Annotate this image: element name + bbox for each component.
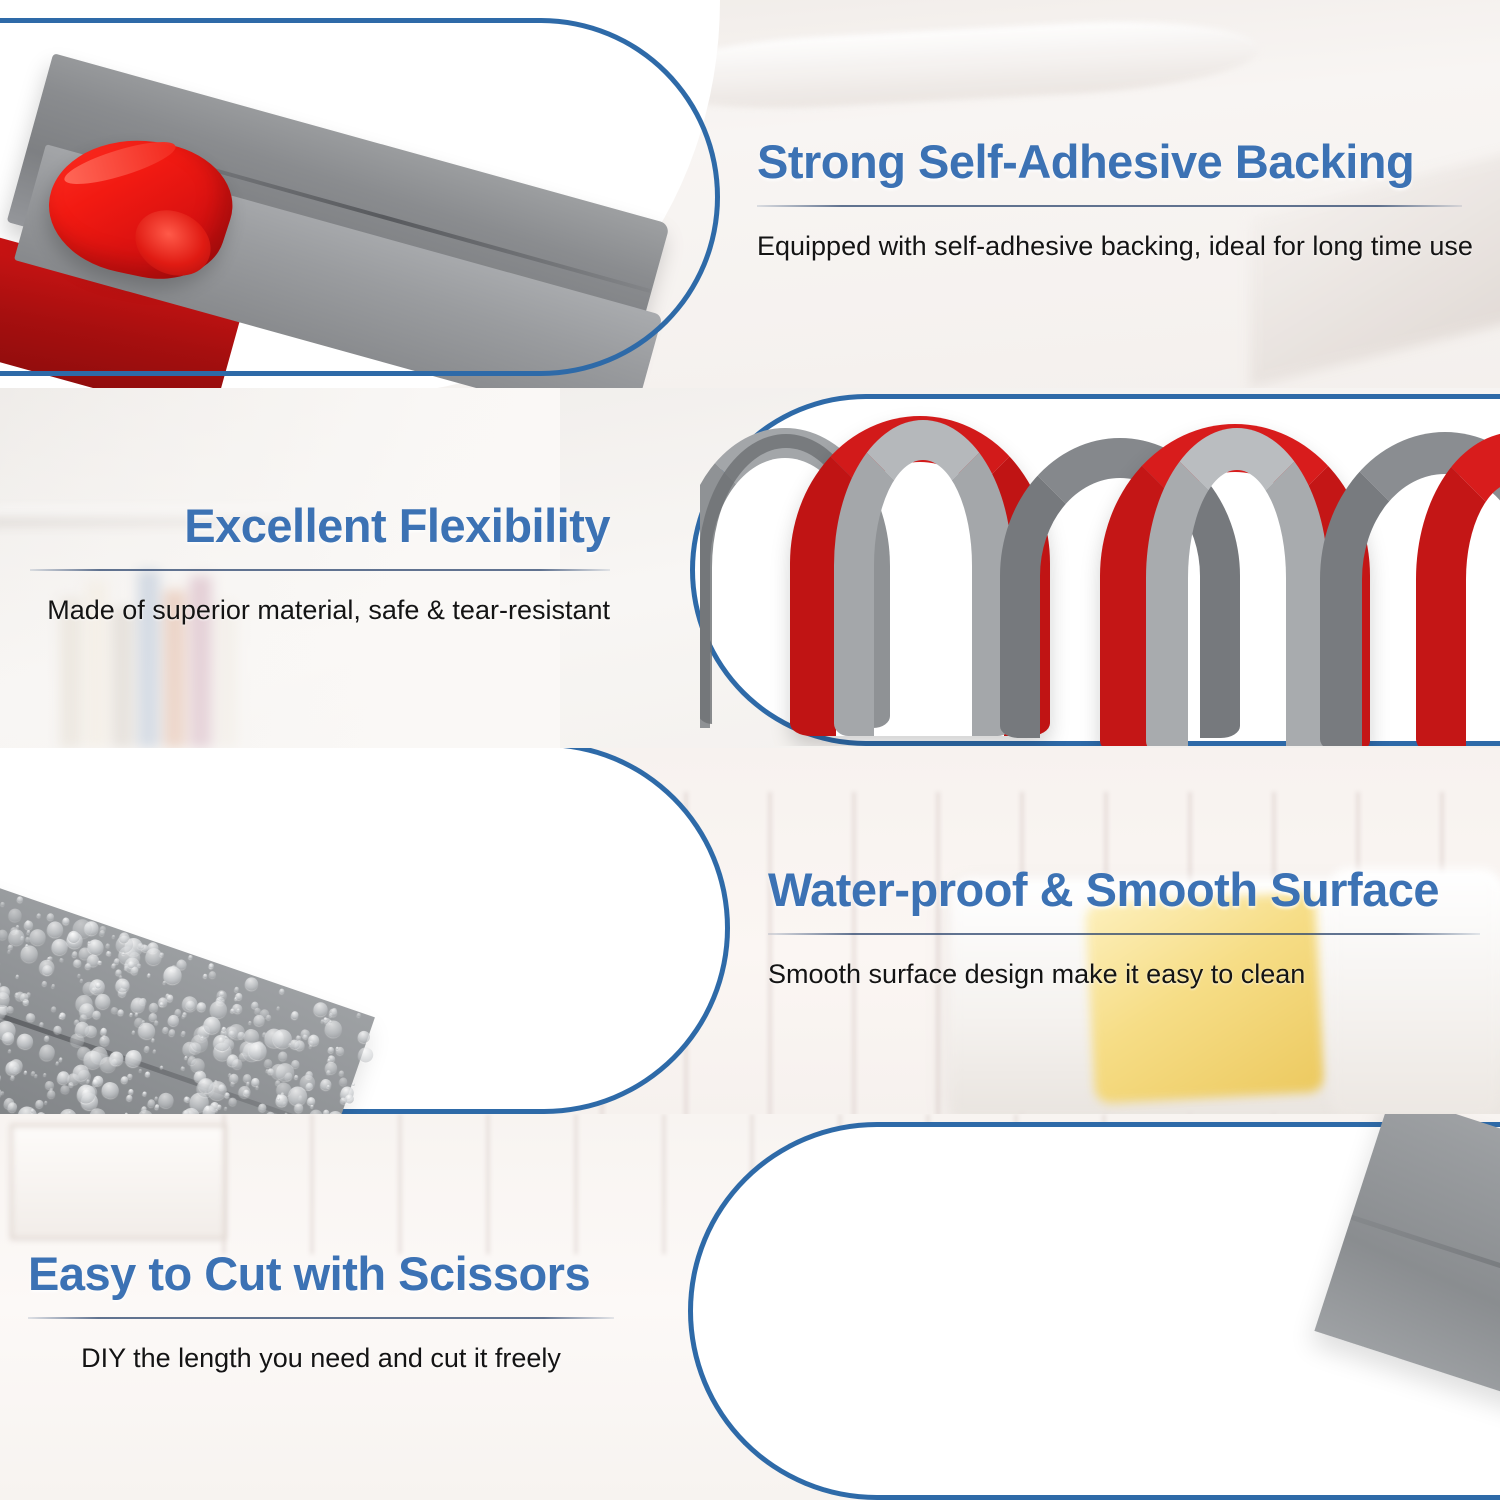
feature-subtitle: Made of superior material, safe & tear-r… bbox=[30, 595, 610, 626]
heading-divider bbox=[768, 933, 1480, 935]
water-droplets bbox=[0, 748, 375, 1118]
product-feature-infographic: Strong Self-Adhesive Backing Equipped wi… bbox=[0, 0, 1500, 1500]
feature-heading: Easy to Cut with Scissors bbox=[28, 1244, 614, 1304]
panel-text-water-proof: Water-proof & Smooth Surface Smooth surf… bbox=[768, 860, 1480, 990]
feature-subtitle: Equipped with self-adhesive backing, ide… bbox=[757, 231, 1473, 262]
product-photo-coil bbox=[700, 398, 1500, 746]
feature-subtitle: DIY the length you need and cut it freel… bbox=[28, 1343, 614, 1374]
feature-panel-self-adhesive: Strong Self-Adhesive Backing Equipped wi… bbox=[0, 0, 1500, 392]
heading-divider bbox=[28, 1317, 614, 1319]
background-cabinet-blur bbox=[10, 1124, 226, 1240]
blue-rounded-frame-icon bbox=[0, 748, 730, 1114]
feature-heading: Excellent Flexibility bbox=[30, 496, 610, 556]
feature-heading: Water-proof & Smooth Surface bbox=[768, 860, 1480, 920]
feature-panel-flexibility: Excellent Flexibility Made of superior m… bbox=[0, 388, 1500, 752]
panel-text-easy-to-cut: Easy to Cut with Scissors DIY the length… bbox=[28, 1244, 614, 1374]
panel-text-flexibility: Excellent Flexibility Made of superior m… bbox=[30, 496, 610, 626]
feature-panel-easy-to-cut: Easy to Cut with Scissors DIY the length… bbox=[0, 1114, 1500, 1500]
feature-subtitle: Smooth surface design make it easy to cl… bbox=[768, 959, 1480, 990]
blue-rounded-frame-icon bbox=[0, 18, 720, 376]
feature-heading: Strong Self-Adhesive Backing bbox=[757, 132, 1473, 192]
feature-panel-water-proof: Water-proof & Smooth Surface Smooth surf… bbox=[0, 748, 1500, 1118]
blue-rounded-frame-icon bbox=[688, 1122, 1500, 1500]
product-photo-cutting bbox=[1314, 1114, 1500, 1500]
strip-seam-line bbox=[1351, 1215, 1500, 1500]
heading-divider bbox=[757, 205, 1462, 207]
heading-divider bbox=[30, 569, 610, 571]
panel-text-self-adhesive: Strong Self-Adhesive Backing Equipped wi… bbox=[757, 132, 1473, 262]
product-photo-waterproof bbox=[0, 748, 375, 1118]
coil-loop-5 bbox=[1320, 432, 1500, 746]
